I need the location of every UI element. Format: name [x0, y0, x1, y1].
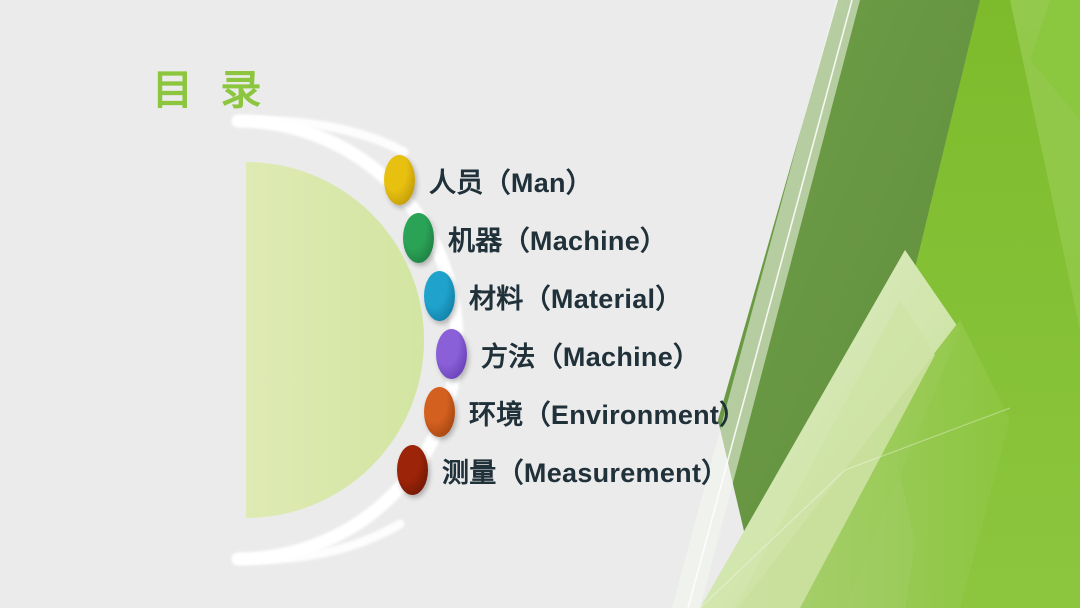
list-item[interactable]: 环境（Environment） [424, 387, 747, 437]
bullet-ellipse-measurement [397, 445, 428, 495]
bullet-ellipse-material [424, 271, 455, 321]
table-of-contents-list: 人员（Man）机器（Machine）材料（Material）方法（Machine… [0, 0, 1080, 608]
list-item-label: 人员（Man） [429, 161, 593, 200]
list-item[interactable]: 人员（Man） [384, 155, 593, 205]
list-item-label: 材料（Material） [469, 277, 683, 316]
list-item-label: 测量（Measurement） [442, 451, 729, 490]
bullet-ellipse-environment [424, 387, 455, 437]
list-item[interactable]: 机器（Machine） [403, 213, 667, 263]
bullet-ellipse-method [436, 329, 467, 379]
bullet-ellipse-machine [403, 213, 434, 263]
list-item[interactable]: 材料（Material） [424, 271, 683, 321]
presentation-slide: 目 录 人员（Man）机器（Machine）材料（Material）方法（Mac… [0, 0, 1080, 608]
list-item[interactable]: 测量（Measurement） [397, 445, 729, 495]
list-item[interactable]: 方法（Machine） [436, 329, 700, 379]
bullet-ellipse-man [384, 155, 415, 205]
list-item-label: 机器（Machine） [448, 219, 667, 258]
list-item-label: 环境（Environment） [469, 393, 747, 432]
list-item-label: 方法（Machine） [481, 335, 700, 374]
